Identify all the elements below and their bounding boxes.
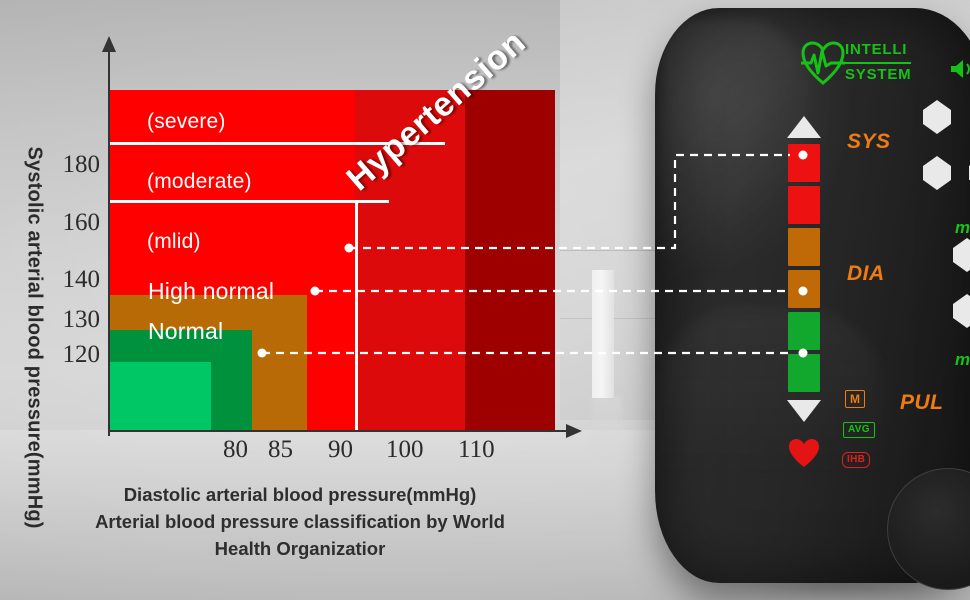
sys-unit-mmhg: mmHg bbox=[955, 218, 970, 238]
irregular-badge: IHB bbox=[842, 452, 870, 468]
sys-digit-2 bbox=[921, 156, 953, 223]
caption-line-2: Health Organizatior bbox=[0, 536, 600, 563]
triangle-up-icon bbox=[787, 116, 821, 138]
bar-green-1 bbox=[788, 312, 820, 350]
band-normal-inner bbox=[110, 362, 211, 430]
x-axis-arrow bbox=[566, 424, 582, 438]
x-axis-line bbox=[108, 430, 568, 432]
x-axis-caption: Diastolic arterial blood pressure(mmHg) … bbox=[0, 482, 600, 562]
heartbeat-icon bbox=[788, 438, 820, 468]
who-bp-classification-chart: Systolic arterial blood pressure(mmHg) (… bbox=[0, 0, 600, 600]
dia-unit-mmhg: mmHg bbox=[955, 350, 970, 370]
divider-160 bbox=[110, 200, 389, 203]
label-moderate: (moderate) bbox=[147, 170, 252, 194]
x-tick-100: 100 bbox=[386, 437, 424, 462]
logo-text-system: SYSTEM bbox=[845, 67, 911, 82]
label-normal: Normal bbox=[148, 318, 223, 345]
plot-area: (severe) (moderate) (mlid) High normal N… bbox=[110, 90, 555, 430]
dia-label: DIA bbox=[847, 262, 885, 286]
average-badge: AVG bbox=[843, 422, 875, 438]
device-start-button[interactable] bbox=[887, 468, 970, 590]
y-axis-arrow bbox=[102, 36, 116, 52]
y-tick-140: 140 bbox=[0, 267, 100, 292]
intelli-system-logo: INTELLI SYSTEM bbox=[801, 40, 911, 96]
heart-ecg-icon bbox=[801, 40, 845, 86]
y-tick-120: 120 bbox=[0, 342, 100, 367]
blood-pressure-monitor-device: INTELLI SYSTEM bbox=[655, 8, 970, 583]
y-tick-130: 130 bbox=[0, 307, 100, 332]
bar-red-1 bbox=[788, 144, 820, 182]
caption-line-1: Arterial blood pressure classification b… bbox=[0, 509, 600, 536]
label-mild: (mlid) bbox=[147, 230, 201, 254]
x-axis-title: Diastolic arterial blood pressure(mmHg) bbox=[0, 482, 600, 509]
x-tick-80: 80 bbox=[223, 437, 248, 462]
y-axis-line bbox=[108, 42, 110, 436]
y-tick-160: 160 bbox=[0, 210, 100, 235]
divider-100 bbox=[355, 200, 358, 430]
pul-label: PUL bbox=[900, 391, 944, 415]
label-high-normal: High normal bbox=[148, 278, 274, 305]
y-tick-180: 180 bbox=[0, 152, 100, 177]
x-tick-85: 85 bbox=[268, 437, 293, 462]
speaker-icon bbox=[949, 58, 970, 80]
bar-red-2 bbox=[788, 186, 820, 224]
logo-text-intelli: INTELLI bbox=[845, 42, 907, 57]
triangle-down-icon bbox=[787, 400, 821, 422]
x-tick-90: 90 bbox=[328, 437, 353, 462]
logo-divider-rule bbox=[845, 62, 911, 64]
label-severe: (severe) bbox=[147, 110, 226, 134]
bar-orange-1 bbox=[788, 228, 820, 266]
x-tick-110: 110 bbox=[458, 437, 495, 462]
bar-orange-2 bbox=[788, 270, 820, 308]
memory-badge: M bbox=[845, 390, 865, 408]
screenshot-canvas: Systolic arterial blood pressure(mmHg) (… bbox=[0, 0, 970, 600]
sys-label: SYS bbox=[847, 130, 891, 154]
bar-green-2 bbox=[788, 354, 820, 392]
